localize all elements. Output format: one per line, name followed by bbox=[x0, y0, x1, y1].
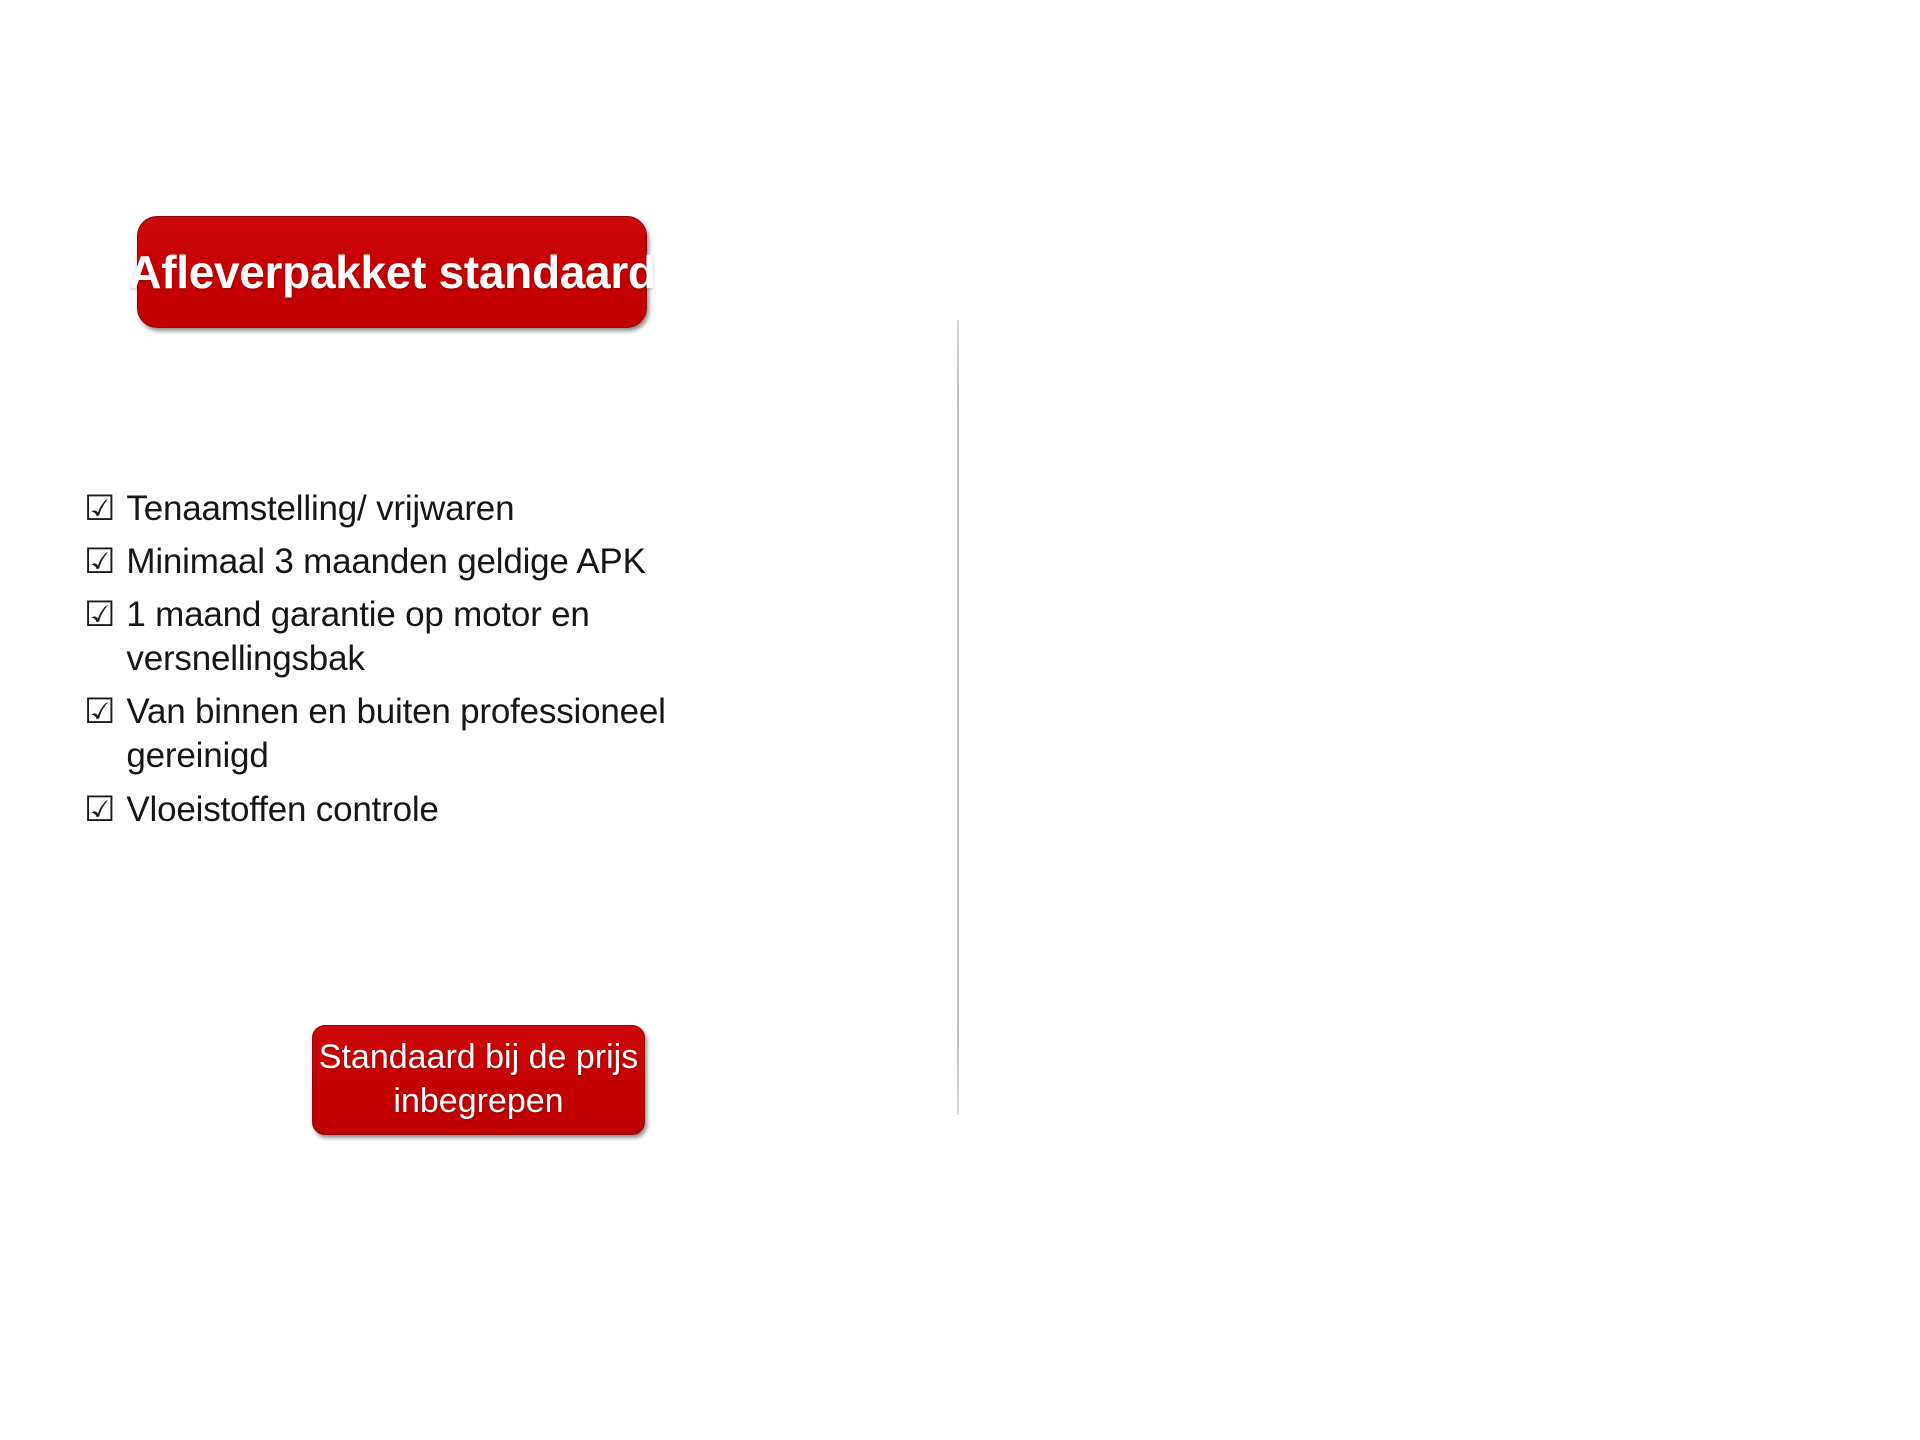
price-badge-standaard: Standaard bij de prijs inbegrepen bbox=[312, 1025, 645, 1135]
list-item: ☑ Minimaal 3 maanden geldige APK bbox=[84, 540, 784, 584]
checkbox-checked-icon: ☑ bbox=[84, 540, 115, 584]
checkbox-checked-icon: ☑ bbox=[84, 788, 115, 832]
list-item-label: Tenaamstelling/ vrijwaren bbox=[126, 487, 514, 531]
list-item: ☑ Vloeistoffen controle bbox=[84, 788, 784, 832]
checkbox-checked-icon: ☑ bbox=[84, 690, 115, 734]
price-badge-standaard-label: Standaard bij de prijs inbegrepen bbox=[313, 1036, 644, 1123]
list-item: ☑ Tenaamstelling/ vrijwaren bbox=[84, 487, 784, 531]
list-item-label: Minimaal 3 maanden geldige APK bbox=[126, 540, 645, 584]
list-item-label: 1 maand garantie op motor en versnelling… bbox=[126, 593, 784, 681]
list-item-label: Van binnen en buiten professioneel gerei… bbox=[126, 690, 784, 778]
banner-standaard-title: Afleverpakket standaard bbox=[128, 245, 655, 299]
list-item: ☑ Van binnen en buiten professioneel ger… bbox=[84, 690, 784, 778]
checkbox-checked-icon: ☑ bbox=[84, 593, 115, 637]
slide-canvas: Afleverpakket standaard ☑ Tenaamstelling… bbox=[0, 0, 1920, 1440]
list-item-label: Vloeistoffen controle bbox=[126, 788, 438, 832]
checkbox-checked-icon: ☑ bbox=[84, 487, 115, 531]
column-divider bbox=[957, 320, 959, 1115]
banner-standaard: Afleverpakket standaard bbox=[137, 216, 647, 328]
list-item: ☑ 1 maand garantie op motor en versnelli… bbox=[84, 593, 784, 681]
checklist-standaard: ☑ Tenaamstelling/ vrijwaren ☑ Minimaal 3… bbox=[84, 487, 784, 841]
